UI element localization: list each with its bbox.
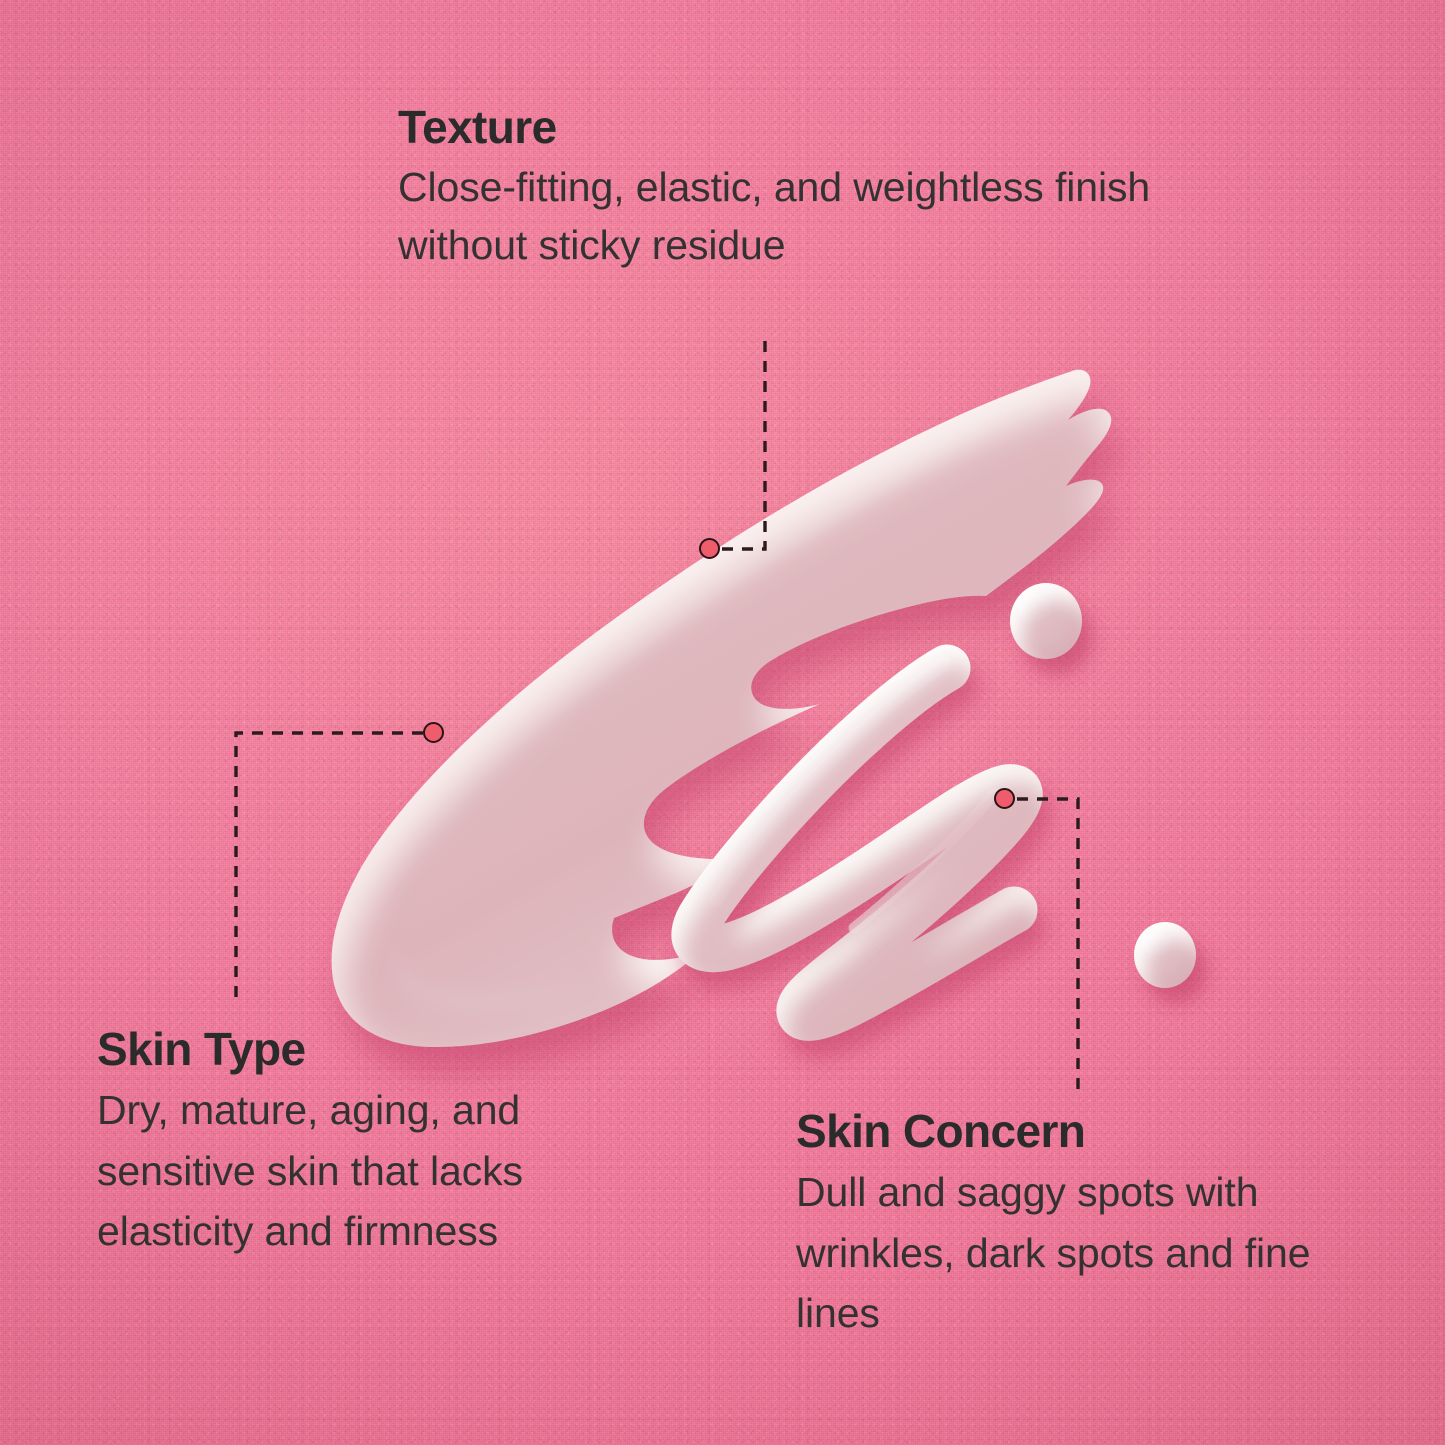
leader-line-texture (722, 336, 765, 549)
callout-heading-texture: Texture (398, 104, 1278, 150)
callout-heading-skin-concern: Skin Concern (796, 1108, 1396, 1154)
callout-body-skin-type: Dry, mature, aging, and sensitive skin t… (97, 1080, 597, 1262)
callout-body-texture: Close-fitting, elastic, and weightless f… (398, 158, 1278, 274)
callout-dot-skin-type[interactable] (423, 722, 444, 743)
leader-line-skin-concern (1017, 799, 1078, 1090)
callout-heading-skin-type: Skin Type (97, 1026, 597, 1072)
callout-dot-texture[interactable] (699, 538, 720, 559)
callout-block-skin-concern: Skin Concern Dull and saggy spots with w… (796, 1108, 1396, 1344)
callout-body-skin-concern: Dull and saggy spots with wrinkles, dark… (796, 1162, 1396, 1344)
callout-dot-skin-concern[interactable] (994, 788, 1015, 809)
callout-block-skin-type: Skin Type Dry, mature, aging, and sensit… (97, 1026, 597, 1262)
leader-line-skin-type (236, 733, 423, 1006)
callout-block-texture: Texture Close-fitting, elastic, and weig… (398, 104, 1278, 274)
product-infographic: Texture Close-fitting, elastic, and weig… (0, 0, 1445, 1445)
